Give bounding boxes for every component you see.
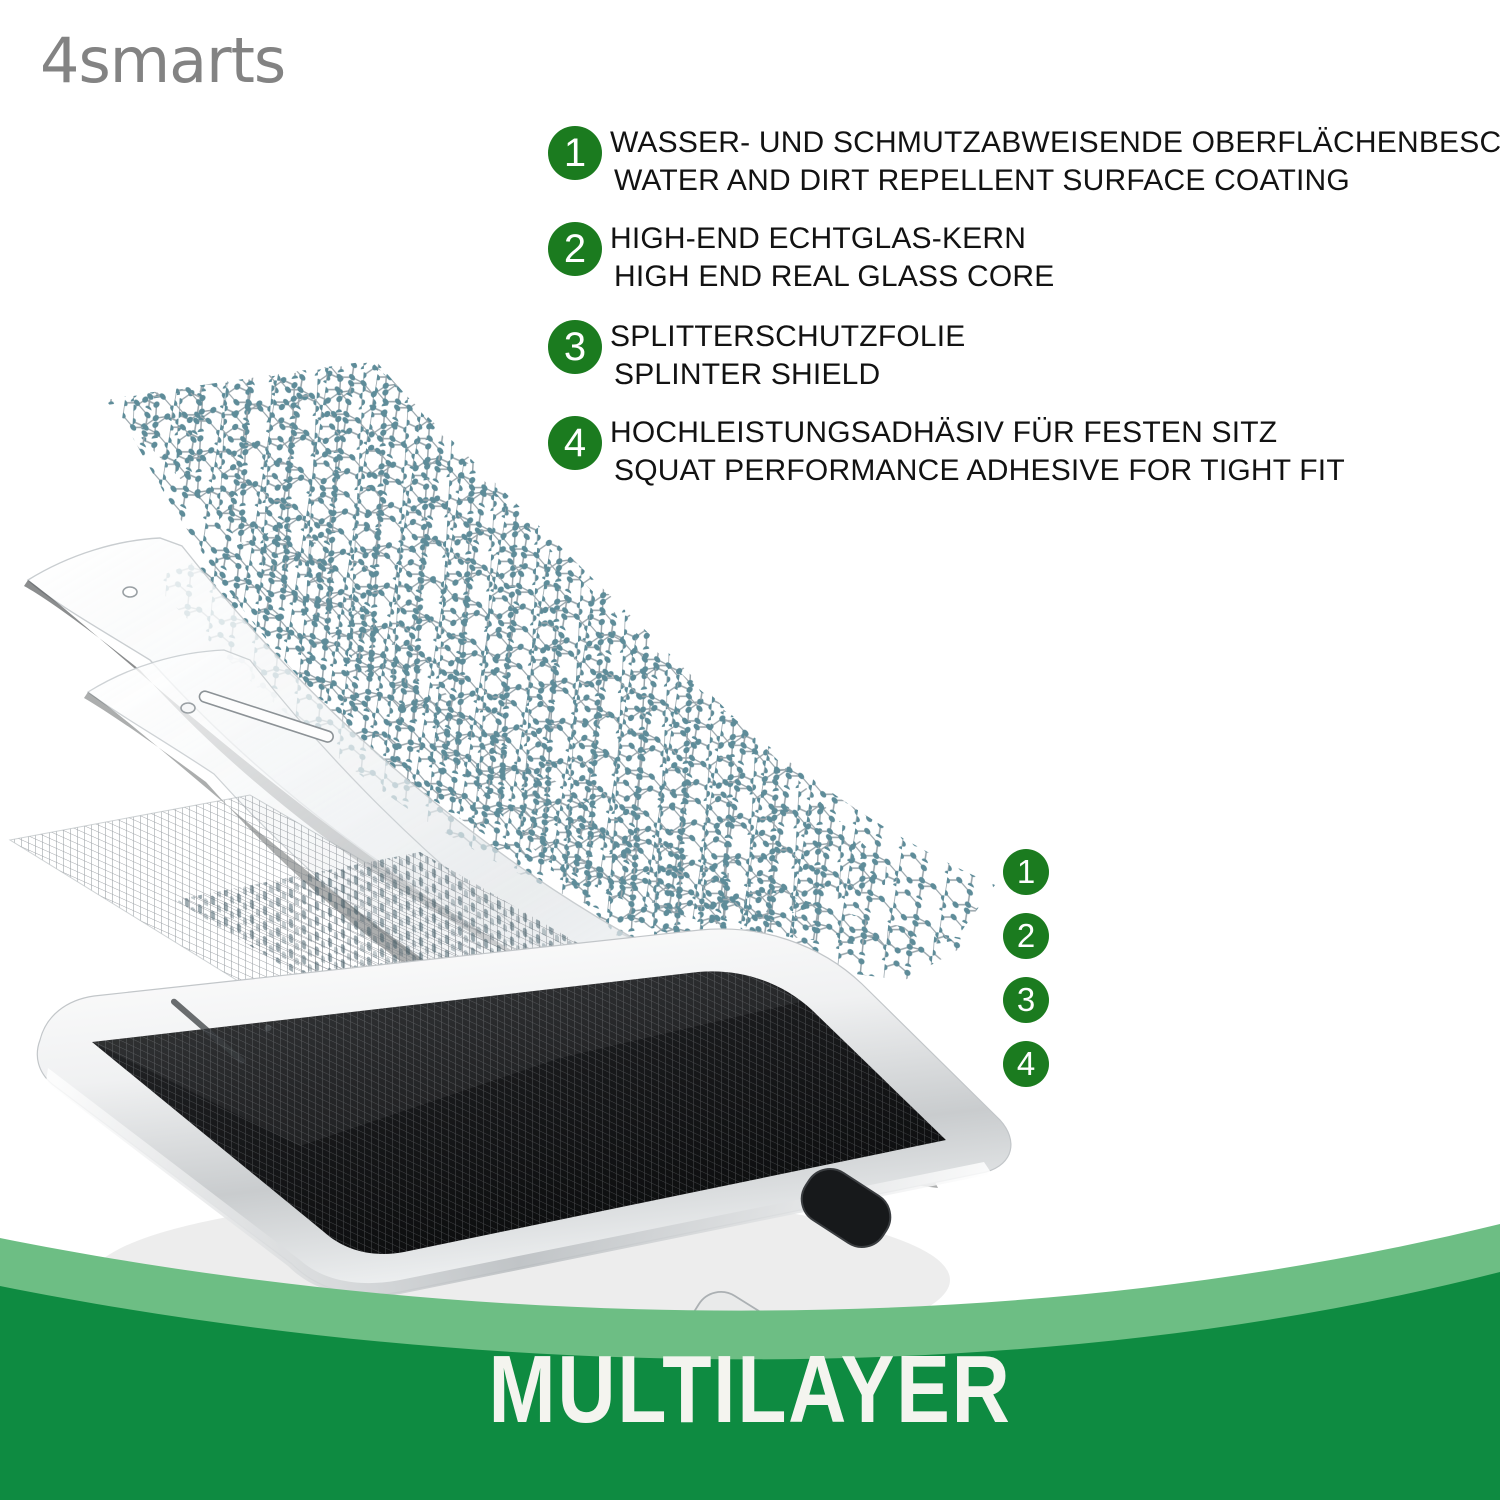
- feature-text-de-2: HIGH-END ECHTGLAS-KERN: [610, 220, 1448, 258]
- feature-number-badge-3: 3: [548, 320, 602, 374]
- feature-text-en-2: HIGH END REAL GLASS CORE: [610, 258, 1448, 296]
- feature-list: 1 WASSER- UND SCHMUTZABWEISENDE OBERFLÄC…: [548, 122, 1448, 502]
- bottom-banner: MULTILAYER: [0, 1220, 1500, 1500]
- layer-marker-4: 4: [1003, 1041, 1049, 1087]
- feature-item-4: 4 HOCHLEISTUNGSADHÄSIV FÜR FESTEN SITZ S…: [548, 412, 1448, 496]
- feature-text-en-3: SPLINTER SHIELD: [610, 356, 1448, 394]
- feature-item-3: 3 SPLITTERSCHUTZFOLIE SPLINTER SHIELD: [548, 316, 1448, 400]
- layer-marker-3: 3: [1003, 977, 1049, 1023]
- feature-item-1: 1 WASSER- UND SCHMUTZABWEISENDE OBERFLÄC…: [548, 122, 1448, 206]
- feature-text-2: HIGH-END ECHTGLAS-KERN HIGH END REAL GLA…: [610, 218, 1448, 296]
- brand-logo: 4smarts: [40, 30, 285, 92]
- feature-text-de-1: WASSER- UND SCHMUTZABWEISENDE OBERFLÄCHE…: [610, 124, 1448, 162]
- layer-marker-column: 1 2 3 4: [1003, 849, 1049, 1105]
- feature-text-en-4: SQUAT PERFORMANCE ADHESIVE FOR TIGHT FIT: [610, 452, 1448, 490]
- feature-text-en-1: WATER AND DIRT REPELLENT SURFACE COATING: [610, 162, 1448, 200]
- product-infographic: 4smarts: [0, 0, 1500, 1500]
- feature-item-2: 2 HIGH-END ECHTGLAS-KERN HIGH END REAL G…: [548, 218, 1448, 302]
- banner-title: MULTILAYER: [120, 1342, 1380, 1438]
- feature-text-de-4: HOCHLEISTUNGSADHÄSIV FÜR FESTEN SITZ: [610, 414, 1448, 452]
- feature-text-1: WASSER- UND SCHMUTZABWEISENDE OBERFLÄCHE…: [610, 122, 1448, 200]
- feature-number-badge-4: 4: [548, 416, 602, 470]
- feature-number-badge-1: 1: [548, 126, 602, 180]
- feature-text-4: HOCHLEISTUNGSADHÄSIV FÜR FESTEN SITZ SQU…: [610, 412, 1448, 490]
- feature-text-de-3: SPLITTERSCHUTZFOLIE: [610, 318, 1448, 356]
- feature-number-badge-2: 2: [548, 222, 602, 276]
- feature-text-3: SPLITTERSCHUTZFOLIE SPLINTER SHIELD: [610, 316, 1448, 394]
- layer-marker-1: 1: [1003, 849, 1049, 895]
- layer-marker-2: 2: [1003, 913, 1049, 959]
